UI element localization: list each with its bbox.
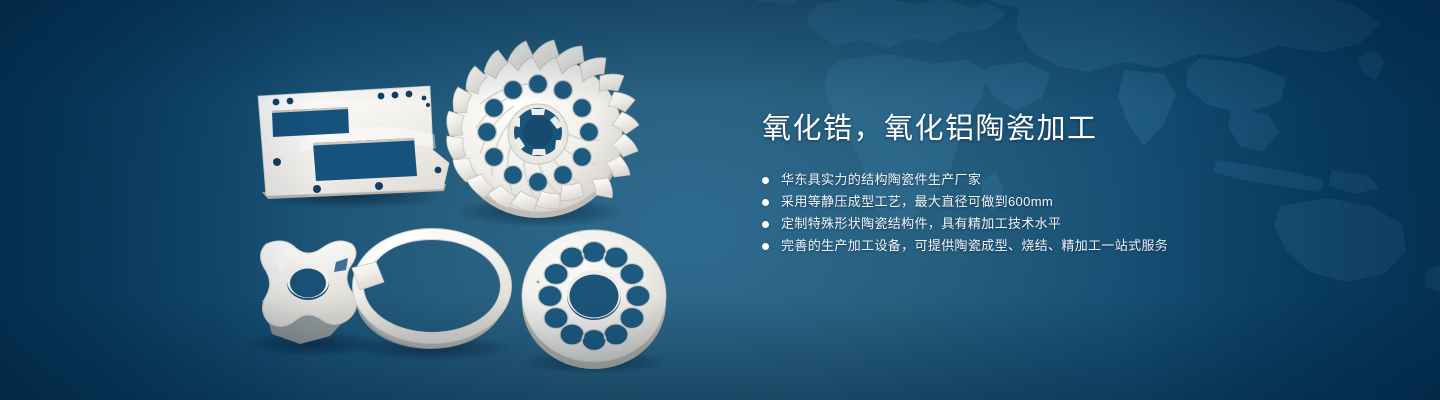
page-title: 氧化锆，氧化铝陶瓷加工 [762, 110, 1322, 148]
bullet-dot-icon [762, 199, 769, 206]
feature-list: 华东具实力的结构陶瓷件生产厂家 采用等静压成型工艺，最大直径可做到600mm 定… [762, 169, 1322, 257]
ceramic-perforated-disc [522, 230, 666, 369]
list-item-label: 完善的生产加工设备，可提供陶瓷成型、烧结、精加工一站式服务 [781, 235, 1168, 257]
list-item-label: 华东具实力的结构陶瓷件生产厂家 [781, 169, 981, 191]
list-item: 采用等静压成型工艺，最大直径可做到600mm [762, 191, 1322, 213]
ceramic-products-photo [0, 0, 720, 400]
ceramic-star-shaped-part [260, 241, 356, 344]
list-item-label: 定制特殊形状陶瓷结构件，具有精加工技术水平 [781, 213, 1061, 235]
product-banner: 氧化锆，氧化铝陶瓷加工 华东具实力的结构陶瓷件生产厂家 采用等静压成型工艺，最大… [0, 0, 1440, 400]
bullet-dot-icon [762, 221, 769, 228]
list-item: 定制特殊形状陶瓷结构件，具有精加工技术水平 [762, 213, 1322, 235]
list-item: 华东具实力的结构陶瓷件生产厂家 [762, 169, 1322, 191]
ceramic-vaned-impeller [447, 40, 639, 218]
bullet-dot-icon [762, 177, 769, 184]
ceramic-machined-plate [258, 86, 449, 199]
list-item-label: 采用等静压成型工艺，最大直径可做到600mm [781, 191, 1053, 213]
list-item: 完善的生产加工设备，可提供陶瓷成型、烧结、精加工一站式服务 [762, 235, 1322, 257]
ceramic-thin-ring [352, 229, 512, 350]
bullet-dot-icon [762, 243, 769, 250]
banner-copy: 氧化锆，氧化铝陶瓷加工 华东具实力的结构陶瓷件生产厂家 采用等静压成型工艺，最大… [762, 110, 1322, 257]
